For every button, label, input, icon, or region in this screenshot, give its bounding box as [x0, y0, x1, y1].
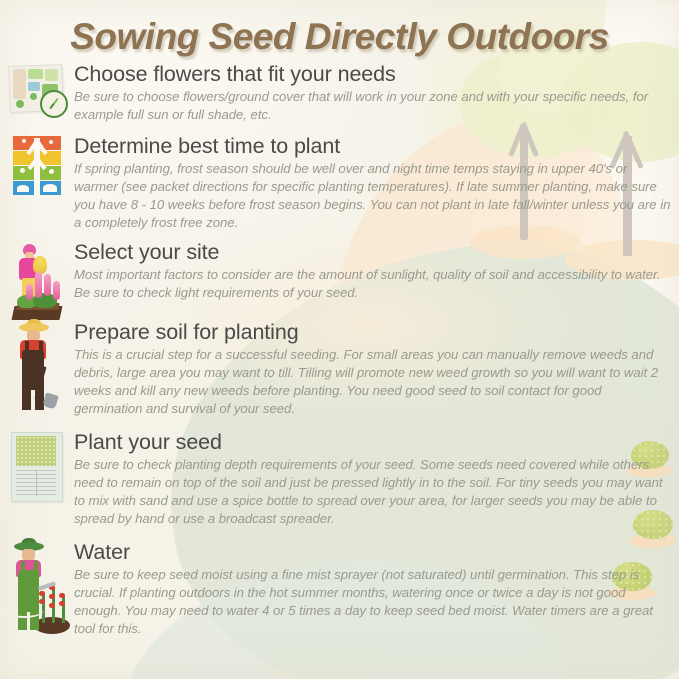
step-text: Plant your seed Be sure to check plantin…: [74, 430, 679, 529]
step-item: Select your site Most important factors …: [0, 240, 679, 320]
step-body: Be sure to check planting depth requirem…: [74, 456, 671, 529]
gardener-watering-icon: [4, 542, 70, 634]
step-icon-slot: [0, 240, 74, 320]
seed-packet-icon: [11, 432, 63, 504]
step-item: Choose flowers that fit your needs Be su…: [0, 62, 679, 134]
step-item: Water Be sure to keep seed moist using a…: [0, 540, 679, 650]
garden-plan-compass-icon: [8, 64, 66, 116]
step-icon-slot: [0, 430, 74, 504]
step-heading: Select your site: [74, 240, 671, 265]
step-body: If spring planting, frost season should …: [74, 160, 671, 233]
infographic-poster: Sowing Seed Directly Outdoors: [0, 0, 679, 679]
step-body: Be sure to keep seed moist using a fine …: [74, 566, 671, 639]
step-heading: Determine best time to plant: [74, 134, 671, 159]
gardener-with-shovel-icon: [11, 322, 63, 410]
step-icon-slot: [0, 134, 74, 198]
step-heading: Choose flowers that fit your needs: [74, 62, 671, 87]
gardener-with-flowers-icon: [9, 242, 65, 320]
step-icon-slot: [0, 540, 74, 634]
step-text: Choose flowers that fit your needs Be su…: [74, 62, 679, 124]
step-body: This is a crucial step for a successful …: [74, 346, 671, 419]
compass-icon: [40, 90, 68, 118]
step-icon-slot: [0, 320, 74, 410]
step-text: Determine best time to plant If spring p…: [74, 134, 679, 233]
step-body: Most important factors to consider are t…: [74, 266, 671, 302]
step-item: Prepare soil for planting This is a cruc…: [0, 320, 679, 430]
step-icon-slot: [0, 62, 74, 116]
four-seasons-icon: [13, 136, 61, 198]
step-text: Water Be sure to keep seed moist using a…: [74, 540, 679, 639]
page-title: Sowing Seed Directly Outdoors: [0, 16, 679, 58]
step-text: Prepare soil for planting This is a cruc…: [74, 320, 679, 419]
step-heading: Plant your seed: [74, 430, 671, 455]
step-body: Be sure to choose flowers/ground cover t…: [74, 88, 671, 124]
step-item: Plant your seed Be sure to check plantin…: [0, 430, 679, 540]
step-item: Determine best time to plant If spring p…: [0, 134, 679, 240]
steps-list: Choose flowers that fit your needs Be su…: [0, 62, 679, 650]
step-heading: Prepare soil for planting: [74, 320, 671, 345]
step-heading: Water: [74, 540, 671, 565]
step-text: Select your site Most important factors …: [74, 240, 679, 302]
